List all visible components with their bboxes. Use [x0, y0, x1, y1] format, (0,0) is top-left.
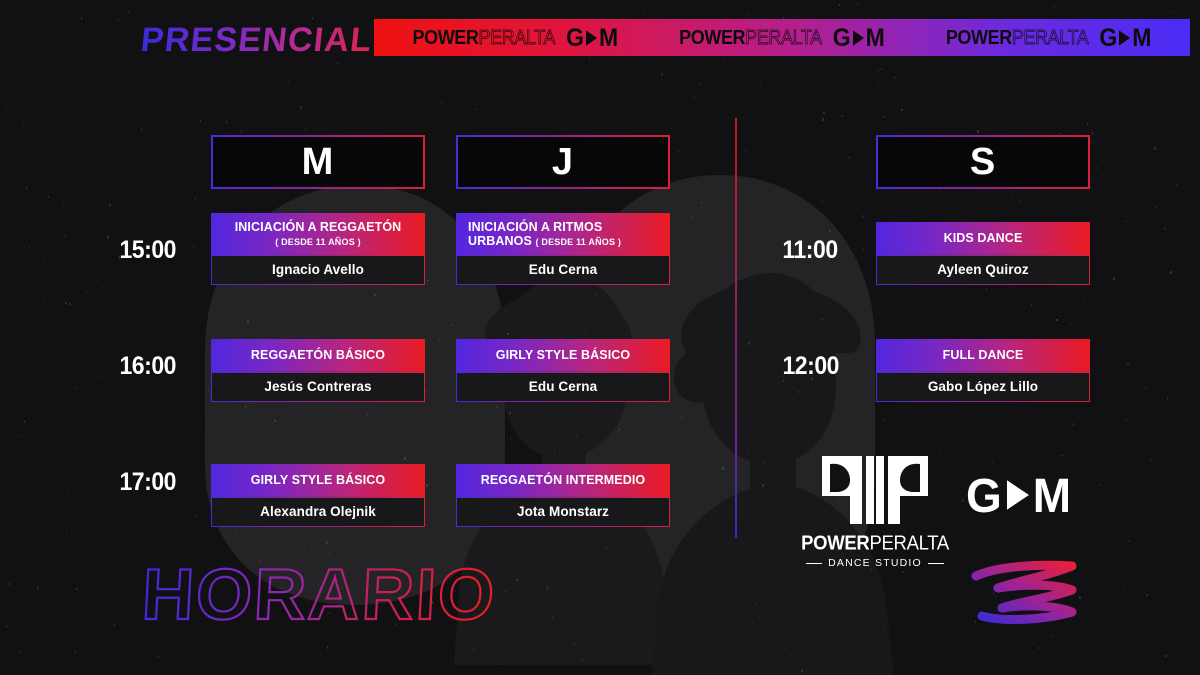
time-label-1600: 16:00 [119, 352, 176, 381]
class-card[interactable]: INICIACIÓN A RITMOS URBANOS ( DESDE 11 A… [456, 213, 670, 285]
day-header-s: S [876, 135, 1090, 189]
instructor-name: Gabo López Lillo [877, 373, 1088, 401]
class-card[interactable]: GIRLY STYLE BÁSICO Edu Cerna [456, 339, 670, 402]
time-label-1700: 17:00 [119, 468, 176, 497]
powerperalta-wordmark: POWERPERALTA [946, 25, 1089, 49]
class-card[interactable]: REGGAETÓN INTERMEDIO Jota Monstarz [456, 464, 670, 527]
class-card[interactable]: REGGAETÓN BÁSICO Jesús Contreras [211, 339, 425, 402]
instructor-frame: Jota Monstarz [456, 496, 670, 527]
day-label: M [213, 137, 424, 188]
powerperalta-wordmark: POWERPERALTA [413, 25, 556, 49]
column-divider [735, 118, 737, 538]
instructor-frame: Ignacio Avello [211, 255, 425, 286]
day-header-m: M [211, 135, 425, 189]
sponsor-banner: POWERPERALTA GM POWERPERALTA GM POWERPER… [374, 19, 1190, 56]
brush-stroke-mark [968, 558, 1088, 633]
instructor-name: Alexandra Olejnik [212, 498, 423, 526]
instructor-frame: Jesús Contreras [211, 371, 425, 402]
instructor-name: Jesús Contreras [212, 373, 423, 401]
class-title: INICIACIÓN A RITMOS URBANOS ( DESDE 11 A… [456, 213, 670, 255]
time-label-1200: 12:00 [782, 352, 839, 381]
instructor-name: Jota Monstarz [457, 498, 668, 526]
gam-letter-g: G [966, 467, 1003, 524]
class-card[interactable]: INICIACIÓN A REGGAETÓN( DESDE 11 AÑOS ) … [211, 213, 425, 285]
class-card[interactable]: FULL DANCE Gabo López Lillo [876, 339, 1090, 402]
banner-logo-group: POWERPERALTA GM [946, 24, 1152, 51]
studio-tagline: DANCE STUDIO [801, 557, 949, 569]
powerperalta-monogram-icon [816, 452, 934, 528]
day-label: J [458, 137, 669, 188]
page-title: PRESENCIAL [139, 21, 374, 60]
instructor-frame: Alexandra Olejnik [211, 496, 425, 527]
class-title: REGGAETÓN BÁSICO [211, 339, 425, 371]
time-label-1100: 11:00 [782, 236, 837, 265]
poster-header: PRESENCIAL POWERPERALTA GM POWERPERALTA … [0, 0, 1200, 70]
gam-triangle-icon [1007, 480, 1029, 509]
instructor-name: Ignacio Avello [212, 256, 423, 284]
gam-logo-icon: GM [566, 23, 618, 53]
instructor-name: Edu Cerna [457, 373, 668, 401]
banner-logo-group: POWERPERALTA GM [679, 24, 885, 51]
gam-logo-icon: GM [833, 23, 885, 53]
instructor-frame: Ayleen Quiroz [876, 254, 1090, 285]
class-title: GIRLY STYLE BÁSICO [211, 464, 425, 496]
class-title: GIRLY STYLE BÁSICO [456, 339, 670, 371]
gam-logo: G M [966, 467, 1072, 524]
class-title: KIDS DANCE [876, 222, 1090, 254]
class-title: FULL DANCE [876, 339, 1090, 371]
instructor-frame: Edu Cerna [456, 255, 670, 286]
svg-text:HORARIO: HORARIO [140, 557, 498, 635]
banner-logo-group: POWERPERALTA GM [413, 24, 619, 51]
day-header-j: J [456, 135, 670, 189]
powerperalta-wordmark: POWERPERALTA [801, 531, 949, 556]
class-subtitle: ( DESDE 11 AÑOS ) [275, 237, 361, 247]
class-card[interactable]: KIDS DANCE Ayleen Quiroz [876, 222, 1090, 285]
instructor-frame: Edu Cerna [456, 371, 670, 402]
powerperalta-logo: POWERPERALTA DANCE STUDIO [801, 452, 949, 569]
gam-letter-m: M [1033, 467, 1072, 524]
instructor-name: Edu Cerna [457, 256, 668, 284]
class-subtitle: ( DESDE 11 AÑOS ) [535, 237, 621, 247]
time-label-1500: 15:00 [119, 236, 176, 265]
class-title: REGGAETÓN INTERMEDIO [456, 464, 670, 496]
instructor-frame: Gabo López Lillo [876, 371, 1090, 402]
gam-logo-icon: GM [1099, 23, 1151, 53]
class-card[interactable]: GIRLY STYLE BÁSICO Alexandra Olejnik [211, 464, 425, 527]
instructor-name: Ayleen Quiroz [877, 256, 1088, 284]
horario-title: HORARIO [140, 557, 544, 637]
day-label: S [878, 137, 1089, 188]
powerperalta-wordmark: POWERPERALTA [679, 25, 822, 49]
class-title: INICIACIÓN A REGGAETÓN( DESDE 11 AÑOS ) [211, 213, 425, 255]
